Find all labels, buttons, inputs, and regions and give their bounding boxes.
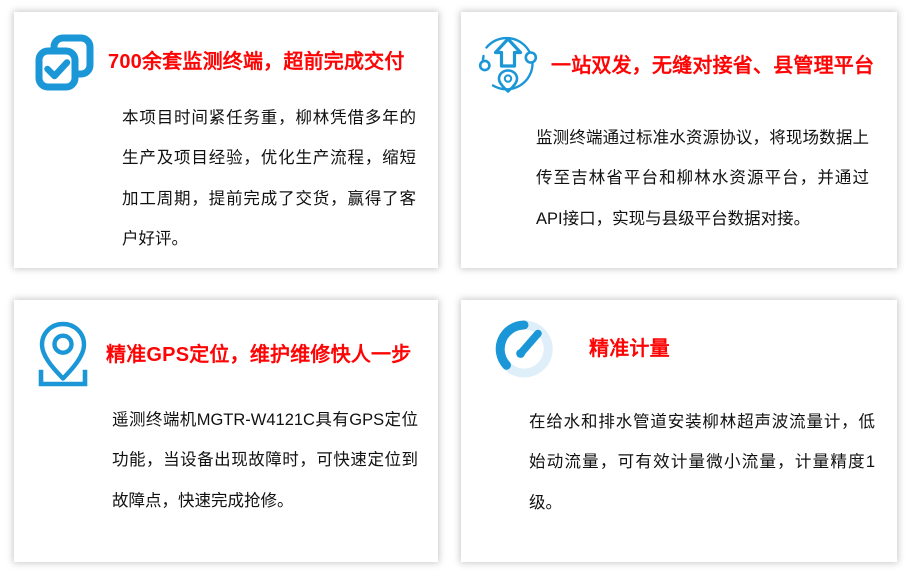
- card-header: 一站双发，无缝对接省、县管理平台: [461, 12, 897, 100]
- card-body-text: 监测终端通过标准水资源协议，将现场数据上传至吉林省平台和柳林水资源平台，并通过A…: [536, 118, 897, 239]
- feature-card-delivery: 700余套监测终端，超前完成交付 本项目时间紧任务重，柳林凭借多年的生产及项目经…: [14, 12, 438, 268]
- feature-card-metering: 精准计量 在给水和排水管道安装柳林超声波流量计，低始动流量，可有效计量微小流量，…: [461, 300, 897, 562]
- card-title: 700余套监测终端，超前完成交付: [108, 50, 405, 74]
- card-header: 700余套监测终端，超前完成交付: [14, 12, 438, 92]
- card-body-text: 遥测终端机MGTR-W4121C具有GPS定位功能，当设备出现故障时，可快速定位…: [112, 400, 438, 521]
- card-header: 精准计量: [461, 300, 897, 378]
- card-title: 精准GPS定位，维护维修快人一步: [106, 343, 411, 367]
- card-title: 精准计量: [567, 337, 670, 361]
- gps-location-pin-icon: [14, 320, 106, 390]
- duplicate-check-icon: [14, 32, 108, 92]
- card-body-text: 本项目时间紧任务重，柳林凭借多年的生产及项目经验，优化生产流程，缩短加工周期，提…: [122, 98, 438, 260]
- upload-network-location-icon: [461, 32, 551, 100]
- card-header: 精准GPS定位，维护维修快人一步: [14, 300, 438, 390]
- card-title: 一站双发，无缝对接省、县管理平台: [551, 54, 874, 78]
- gauge-meter-icon: [461, 320, 567, 378]
- feature-card-gps: 精准GPS定位，维护维修快人一步 遥测终端机MGTR-W4121C具有GPS定位…: [14, 300, 438, 562]
- feature-card-dual-dispatch: 一站双发，无缝对接省、县管理平台 监测终端通过标准水资源协议，将现场数据上传至吉…: [461, 12, 897, 268]
- card-body-text: 在给水和排水管道安装柳林超声波流量计，低始动流量，可有效计量微小流量，计量精度1…: [529, 402, 897, 523]
- feature-card-grid: 700余套监测终端，超前完成交付 本项目时间紧任务重，柳林凭借多年的生产及项目经…: [0, 0, 910, 572]
